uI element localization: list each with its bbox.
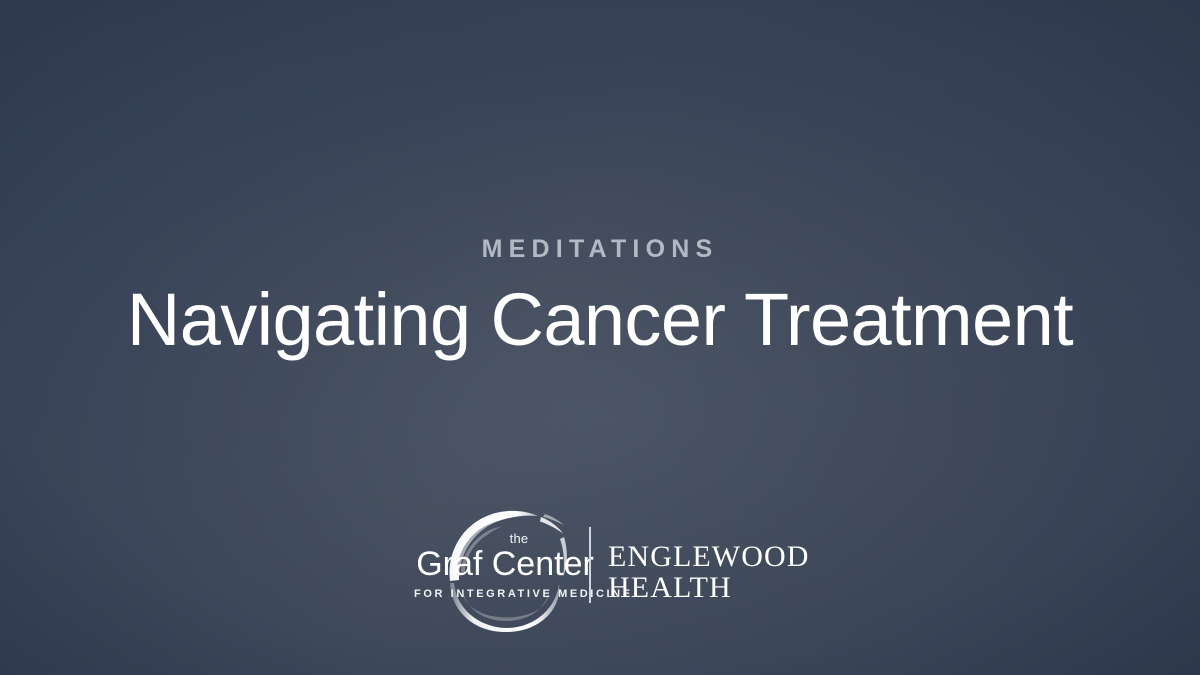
logo-lockup: the Graf Center FOR INTEGRATIVE MEDICINE…	[414, 505, 786, 635]
slide-eyebrow: MEDITATIONS	[0, 235, 1200, 264]
graf-the-label: the	[414, 531, 596, 546]
englewood-health-line-1: ENGLEWOOD	[608, 541, 810, 572]
title-slide: MEDITATIONS Navigating Cancer Treatment	[0, 0, 1200, 675]
logo-divider	[589, 527, 591, 603]
englewood-health-wordmark: ENGLEWOOD HEALTH	[608, 541, 810, 603]
page-title: Navigating Cancer Treatment	[0, 277, 1200, 362]
graf-center-name: Graf Center	[414, 545, 596, 584]
englewood-health-line-2: HEALTH	[608, 572, 810, 603]
graf-center-wordmark: the Graf Center FOR INTEGRATIVE MEDICINE	[414, 525, 596, 615]
graf-center-tagline: FOR INTEGRATIVE MEDICINE	[414, 588, 596, 600]
